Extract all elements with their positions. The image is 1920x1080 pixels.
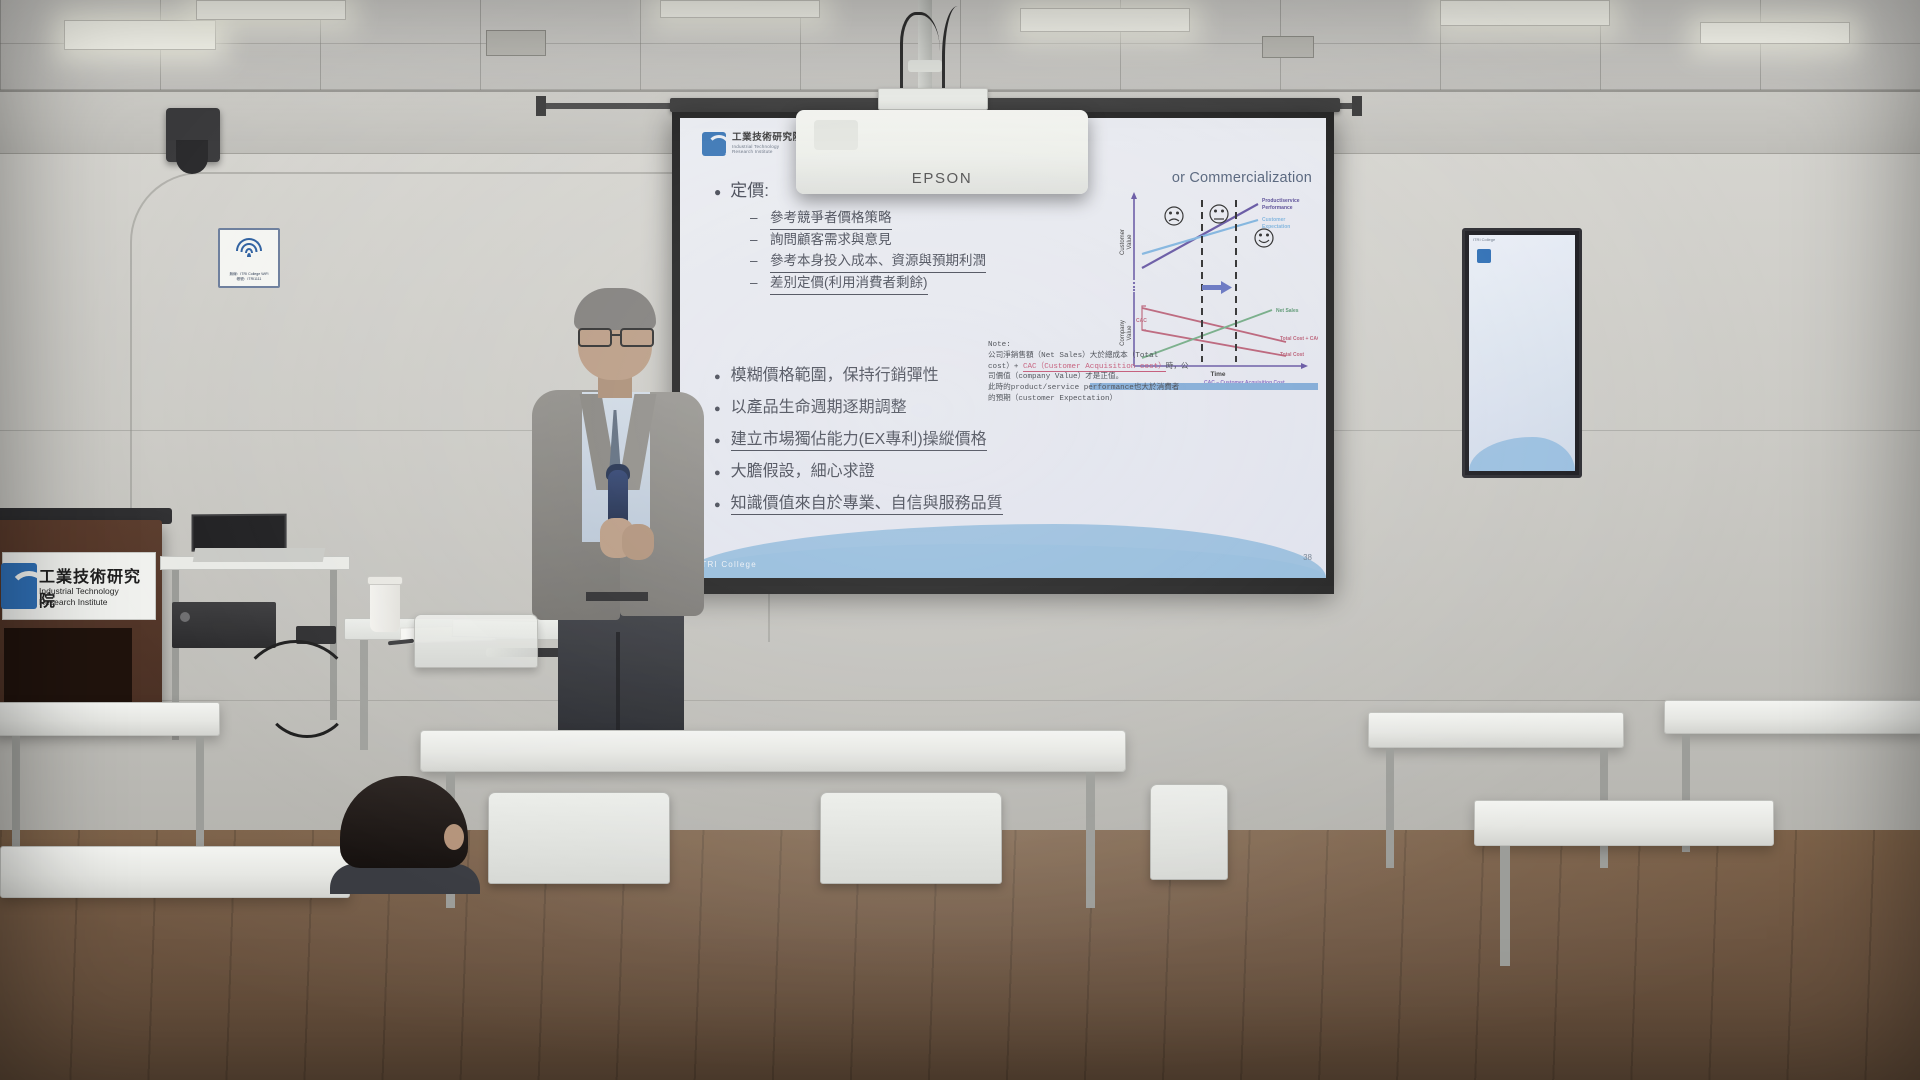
sub-bullet-text: 詢問顧客需求與意見 bbox=[770, 230, 892, 251]
student-desk bbox=[1368, 712, 1624, 748]
slide-note-block: Note: 公司淨銷售額（Net Sales）大於總成本（Total cost）… bbox=[988, 340, 1218, 405]
list-item: – 詢問顧客需求與意見 bbox=[750, 230, 1054, 251]
student-desk bbox=[0, 846, 350, 898]
dash-icon: – bbox=[750, 208, 762, 230]
audience-member bbox=[340, 776, 468, 880]
coffee-cup-lid bbox=[367, 576, 403, 585]
presenter-hair bbox=[574, 288, 656, 330]
audience-member-head bbox=[340, 776, 468, 868]
presenter bbox=[530, 292, 708, 744]
ceiling-vent bbox=[1262, 36, 1314, 58]
ceiling-light bbox=[196, 0, 346, 20]
note-line-3: 司價值（company Value）才是正值。 bbox=[988, 372, 1218, 383]
slide-logo-english-2: Research Institute bbox=[732, 149, 803, 155]
list-item: – 參考競爭者價格策略 bbox=[750, 208, 1054, 230]
student-desk-leg bbox=[1386, 748, 1394, 868]
bullet-dot-icon: ● bbox=[714, 182, 721, 202]
sub-bullet-text: 參考本身投入成本、資源與預期利潤 bbox=[770, 251, 986, 273]
glasses-bridge bbox=[610, 334, 622, 336]
podium-recess bbox=[4, 628, 132, 706]
note-line-2: cost）+ CAC（Customer Acquisition cost）時，公 bbox=[988, 362, 1218, 373]
lower-bullet-text: 大膽假設，細心求證 bbox=[731, 464, 875, 483]
student-desk bbox=[0, 702, 220, 736]
student-desk bbox=[1664, 700, 1920, 734]
front-desk-leg bbox=[360, 640, 368, 750]
note-line-1: 公司淨銷售額（Net Sales）大於總成本（Total bbox=[988, 351, 1218, 362]
coffee-cup[interactable] bbox=[370, 580, 400, 632]
note-line-5: 的預期（customer Expectation） bbox=[988, 394, 1218, 405]
bullet-dot-icon: ● bbox=[714, 368, 721, 387]
note-cac-term: CAC（Customer Acquisition cost） bbox=[1023, 363, 1166, 372]
bullet-dot-icon: ● bbox=[714, 496, 721, 515]
note-line-2c: 時，公 bbox=[1166, 363, 1189, 371]
podium-sign-english-1: Industrial Technology bbox=[39, 586, 119, 597]
slide-wave-front bbox=[680, 524, 1326, 578]
screen-roller-cap-right bbox=[1352, 96, 1362, 116]
tv-itri-logo-icon bbox=[1477, 249, 1491, 263]
list-item: – 參考本身投入成本、資源與預期利潤 bbox=[750, 251, 1054, 273]
student-desk-leg bbox=[1086, 772, 1095, 908]
classroom-scene: 無線：ITRI College WiFi 帳號：ITRI1111 ITRI Co… bbox=[0, 0, 1920, 1080]
bullet-dot-icon: ● bbox=[714, 400, 721, 419]
slide-page-number: 38 bbox=[1303, 553, 1312, 562]
podium-sign-english-2: Research Institute bbox=[39, 597, 119, 608]
wifi-sign-text: 無線：ITRI College WiFi 帳號：ITRI1111 bbox=[223, 272, 275, 282]
chair[interactable] bbox=[1150, 784, 1228, 880]
lower-bullet-text: 建立市場獨佔能力(EX專利)操縱價格 bbox=[731, 432, 987, 451]
student-desk bbox=[1474, 800, 1774, 846]
dash-icon: – bbox=[750, 230, 762, 251]
amplifier-knob[interactable] bbox=[180, 612, 190, 622]
wifi-info-sign: 無線：ITRI College WiFi 帳號：ITRI1111 bbox=[218, 228, 280, 288]
podium-sign-english: Industrial Technology Research Institute bbox=[39, 586, 119, 609]
slide-sub-bullets: – 參考競爭者價格策略 – 詢問顧客需求與意見 – 參考本身投入成本、資源與預期… bbox=[750, 208, 1054, 295]
student-desk bbox=[420, 730, 1126, 772]
chair[interactable] bbox=[414, 614, 538, 668]
lower-bullet-text: 模糊價格範圍，保持行銷彈性 bbox=[731, 368, 939, 387]
svg-text:Expectation: Expectation bbox=[1262, 224, 1290, 230]
tv-wave-graphic bbox=[1469, 437, 1575, 471]
sub-bullet-text: 差別定價(利用消費者剩餘) bbox=[770, 273, 928, 295]
svg-text:Total Cost + CAC: Total Cost + CAC bbox=[1280, 336, 1318, 342]
presenter-belt bbox=[586, 592, 648, 601]
projector-brand-label: EPSON bbox=[796, 170, 1088, 187]
slide-itri-logo: 工業技術研究院 Industrial Technology Research I… bbox=[702, 132, 803, 156]
student-desk-leg bbox=[1500, 846, 1510, 966]
svg-text:Product/service: Product/service bbox=[1262, 198, 1300, 204]
lower-bullet-text: 以產品生命週期逐期調整 bbox=[731, 400, 907, 419]
list-item: ● 建立市場獨佔能力(EX專利)操縱價格 bbox=[714, 432, 1084, 451]
slide-logo-chinese: 工業技術研究院 bbox=[732, 133, 803, 144]
svg-text:Net Sales: Net Sales bbox=[1276, 308, 1299, 314]
screen-bottom-weight-bar bbox=[672, 586, 1334, 594]
laptop-keyboard[interactable] bbox=[193, 548, 325, 562]
ceiling-light bbox=[1440, 0, 1610, 26]
projector-lens bbox=[814, 120, 858, 150]
bullet-dot-icon: ● bbox=[714, 464, 721, 483]
audio-amplifier[interactable] bbox=[172, 602, 276, 648]
podium-itri-logo-icon bbox=[1, 563, 37, 609]
student-desk-leg bbox=[12, 736, 20, 856]
projector-cable bbox=[900, 12, 940, 90]
ceiling-light bbox=[660, 0, 820, 18]
ceiling-vent bbox=[486, 30, 546, 56]
presenter-hand-right bbox=[622, 524, 654, 560]
itri-logo-icon bbox=[702, 132, 726, 156]
ceiling-light bbox=[64, 20, 216, 50]
ceiling-projector: EPSON bbox=[796, 110, 1088, 194]
ceiling-light bbox=[1700, 22, 1850, 44]
svg-text:Customer: Customer bbox=[1262, 217, 1285, 223]
svg-text:Customer: Customer bbox=[1120, 229, 1126, 255]
dash-icon: – bbox=[750, 251, 762, 273]
svg-text:Value: Value bbox=[1127, 325, 1133, 341]
svg-text:Total Cost: Total Cost bbox=[1280, 352, 1304, 358]
sub-bullet-text: 參考競爭者價格策略 bbox=[770, 208, 892, 230]
chair[interactable] bbox=[820, 792, 1002, 884]
dash-icon: – bbox=[750, 273, 762, 295]
glasses-icon bbox=[578, 328, 654, 344]
slide-title: or Commercialization bbox=[1172, 170, 1312, 186]
wifi-account-line: 帳號：ITRI1111 bbox=[223, 277, 275, 282]
tv-screen: ITRI College bbox=[1469, 235, 1575, 471]
tv-label-text: ITRI College bbox=[1473, 237, 1495, 242]
svg-text:CAC: CAC bbox=[1136, 318, 1147, 324]
chair[interactable] bbox=[488, 792, 670, 884]
svg-text:Performance: Performance bbox=[1262, 205, 1293, 211]
podium-itri-sign: 工業技術研究院 Industrial Technology Research I… bbox=[2, 552, 156, 620]
note-line-4: 此時的product/service performance也大於消費者 bbox=[988, 383, 1218, 394]
student-desk-leg bbox=[196, 736, 204, 856]
laptop-screen[interactable] bbox=[192, 514, 287, 553]
slide-bullet-block-top: ● 定價: – 參考競爭者價格策略 – 詢問顧客需求與意見 – bbox=[714, 182, 1054, 295]
lower-bullet-text: 知識價值來自於專業、自信與服務品質 bbox=[731, 496, 1003, 515]
wifi-icon bbox=[235, 238, 263, 258]
screen-mount-arm-left bbox=[540, 103, 676, 109]
list-item: ● 大膽假設，細心求證 bbox=[714, 464, 1084, 483]
ceiling-light bbox=[1020, 8, 1190, 32]
list-item: – 差別定價(利用消費者剩餘) bbox=[750, 273, 1054, 295]
audience-member-shoulders bbox=[330, 864, 480, 894]
bullet-dot-icon: ● bbox=[714, 432, 721, 451]
wall-speaker-cone bbox=[176, 140, 208, 174]
screen-roller-cap-left bbox=[536, 96, 546, 116]
wall-display-tv[interactable]: ITRI College bbox=[1462, 228, 1582, 478]
presenter-leg-split bbox=[616, 632, 620, 744]
cable-coil bbox=[262, 648, 352, 738]
list-item: ● 知識價值來自於專業、自信與服務品質 bbox=[714, 496, 1084, 515]
audience-member-ear bbox=[444, 824, 464, 850]
slide-main-bullet-text: 定價: bbox=[730, 182, 769, 202]
svg-text:Value: Value bbox=[1127, 234, 1133, 250]
projector-mount-plate bbox=[878, 88, 988, 110]
note-line-2a: cost）+ bbox=[988, 363, 1023, 371]
note-heading: Note: bbox=[988, 340, 1218, 351]
